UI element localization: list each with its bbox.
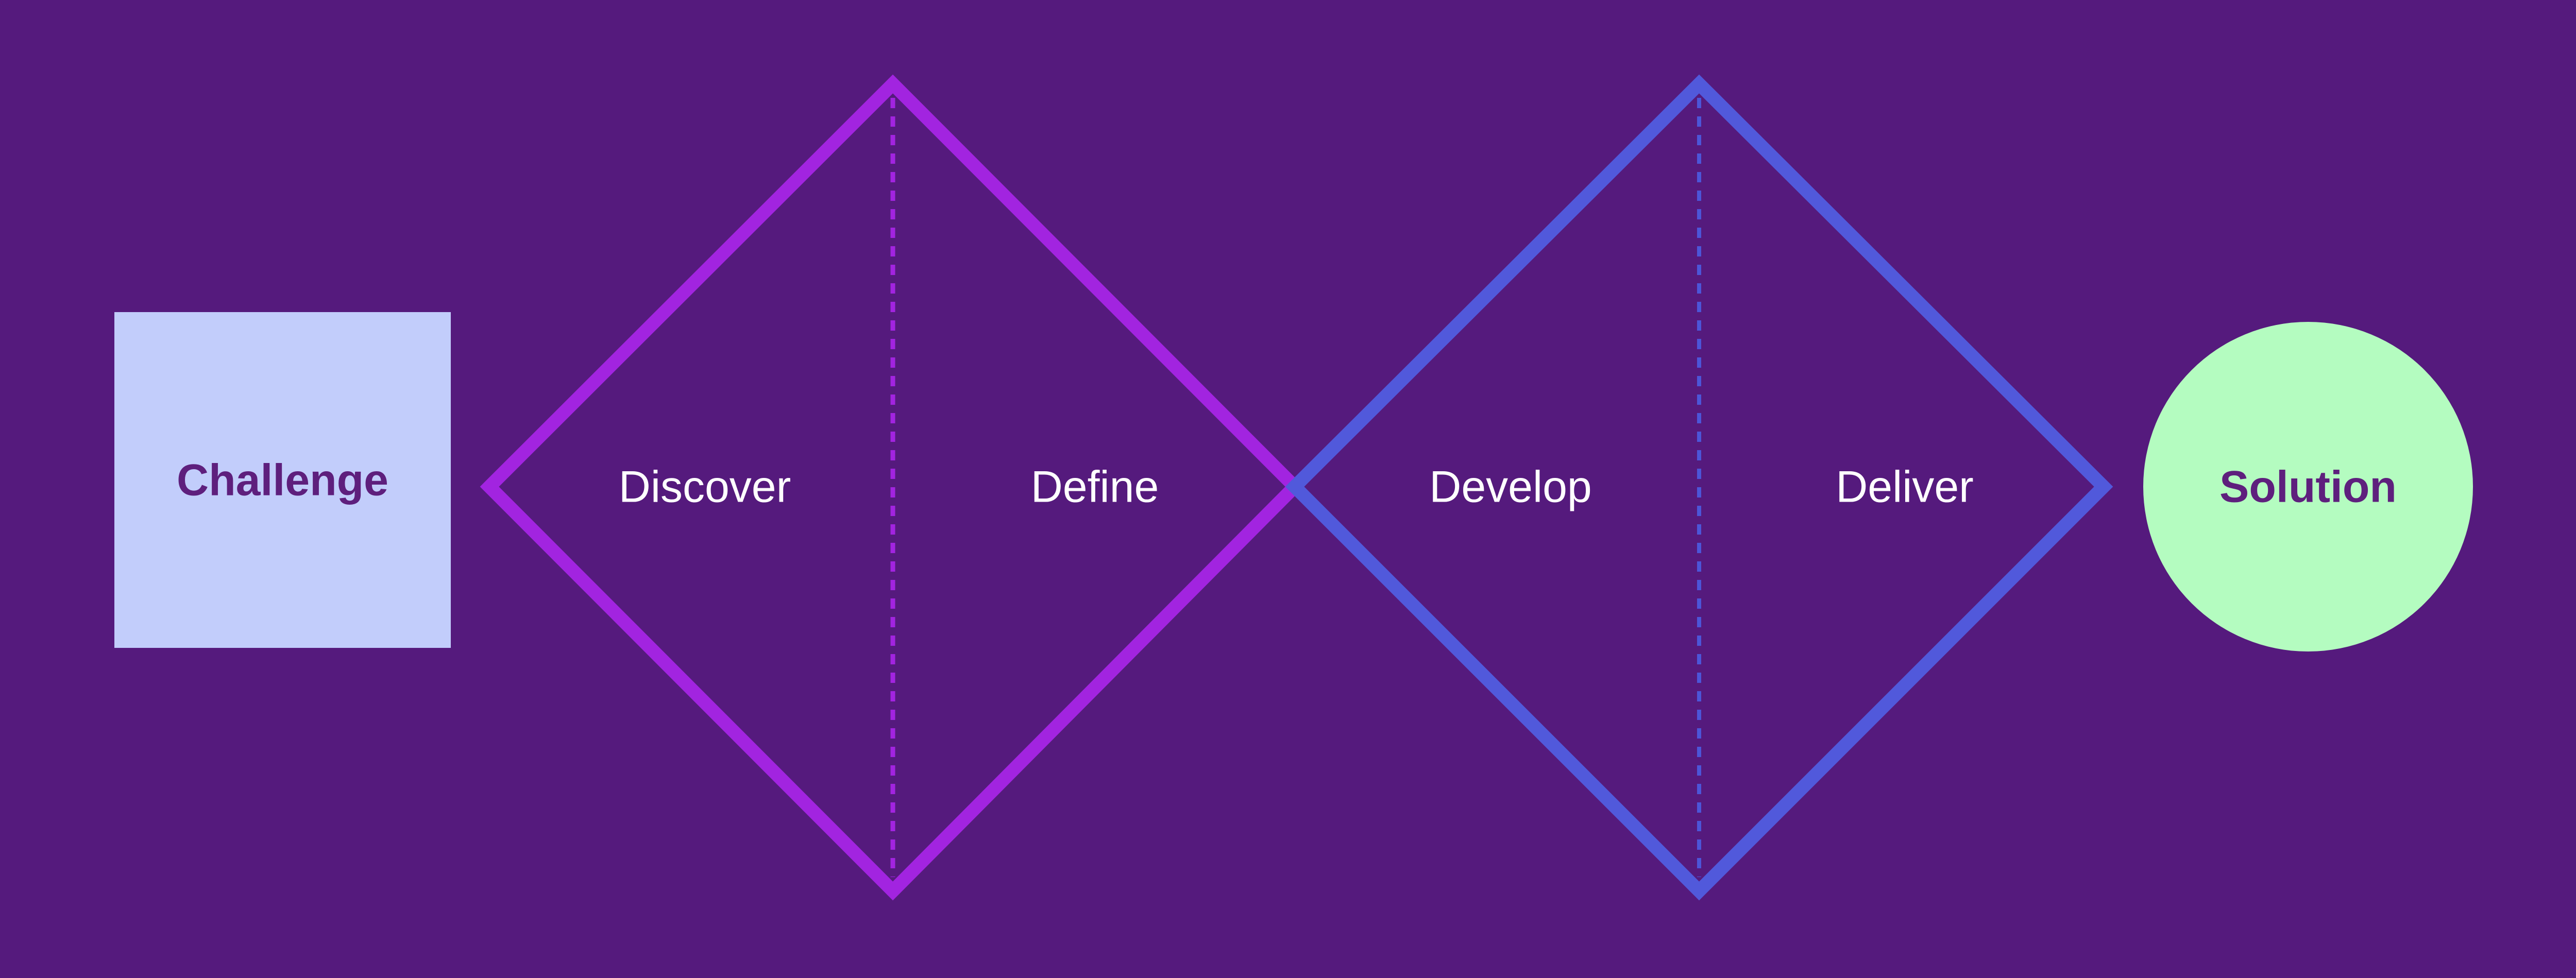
- phase-label-discover: Discover: [619, 462, 791, 512]
- phase-label-deliver: Deliver: [1836, 462, 1974, 512]
- double-diamond-diagram: Challenge Discover Define Develop Delive…: [0, 0, 2576, 978]
- phase-label-develop: Develop: [1429, 462, 1592, 512]
- challenge-label: Challenge: [177, 456, 388, 505]
- phase-label-define: Define: [1031, 462, 1159, 512]
- diagram-canvas: Challenge Discover Define Develop Delive…: [0, 0, 2576, 978]
- solution-label: Solution: [2219, 462, 2397, 512]
